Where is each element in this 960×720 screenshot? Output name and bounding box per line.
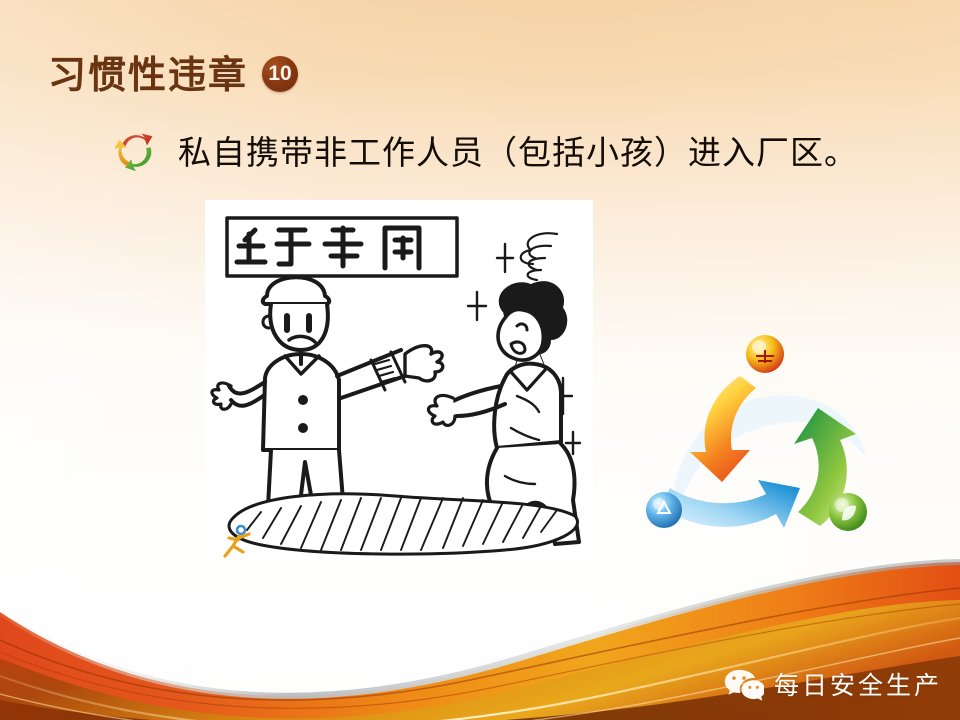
page-title: 习惯性违章 (48, 44, 248, 99)
slide-canvas: 习惯性违章 10 私自携带非工作人员（包括小孩）进入厂区。 (0, 0, 960, 720)
violation-description: 私自携带非工作人员（包括小孩）进入厂区。 (178, 126, 858, 174)
footer-watermark: 每日安全生产 (724, 666, 942, 702)
footer-label: 每日安全生产 (774, 666, 942, 702)
sun-badge (746, 335, 784, 373)
status-badge: 10 (262, 56, 298, 92)
wechat-icon (724, 667, 764, 701)
recycle-arrows-icon (112, 127, 158, 173)
slide-header: 习惯性违章 10 (48, 44, 298, 99)
bullet-row: 私自携带非工作人员（包括小孩）进入厂区。 (112, 126, 858, 174)
